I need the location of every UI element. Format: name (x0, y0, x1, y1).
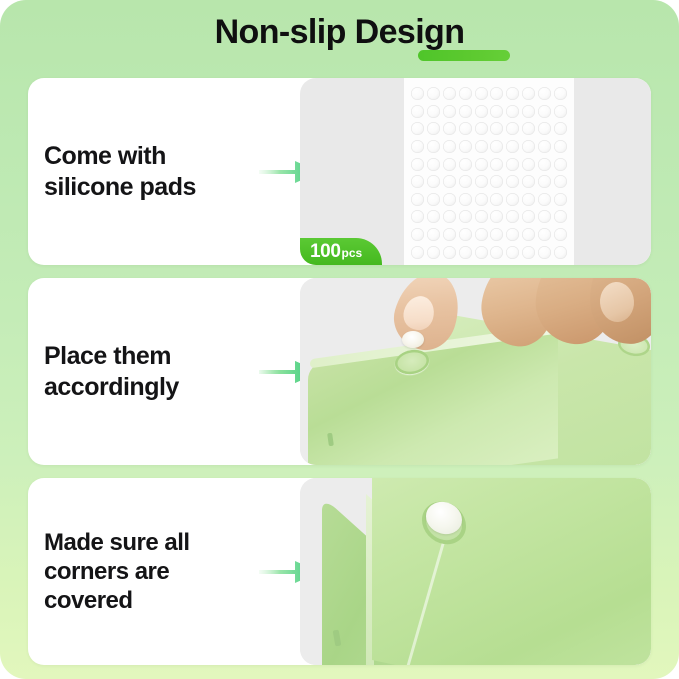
silicone-pad (522, 193, 535, 206)
silicone-pad (506, 105, 519, 118)
feature-card-3-label: Made sure all corners are covered (28, 528, 190, 616)
silicone-pad (411, 175, 424, 188)
silicone-pad (538, 140, 551, 153)
silicone-pad (443, 105, 456, 118)
silicone-pad (554, 87, 567, 100)
silicone-pad (490, 228, 503, 241)
silicone-pad (427, 122, 440, 135)
silicone-pad (411, 87, 424, 100)
silicone-pad (411, 246, 424, 259)
silicone-pad (459, 210, 472, 223)
silicone-pad (427, 193, 440, 206)
silicone-pad (443, 87, 456, 100)
silicone-pad (522, 246, 535, 259)
silicone-pad (490, 210, 503, 223)
silicone-pad (506, 158, 519, 171)
silicone-pad (522, 105, 535, 118)
silicone-pad (538, 228, 551, 241)
silicone-pad (475, 122, 488, 135)
quantity-badge-unit: pcs (342, 240, 363, 265)
silicone-pad (554, 246, 567, 259)
quantity-badge-count: 100 (310, 238, 341, 265)
silicone-pad (490, 122, 503, 135)
silicone-pad (554, 193, 567, 206)
silicone-pad (506, 228, 519, 241)
silicone-pad (475, 246, 488, 259)
silicone-pad (411, 210, 424, 223)
silicone-pad (411, 140, 424, 153)
silicone-pad (506, 87, 519, 100)
silicone-pad (459, 175, 472, 188)
page-title: Non-slip Design (0, 6, 679, 58)
silicone-pad (538, 87, 551, 100)
feature-card-3-line2: corners are (44, 557, 190, 586)
feature-card-1-line1: Come with (44, 141, 196, 172)
silicone-pad (443, 175, 456, 188)
silicone-pad (506, 122, 519, 135)
quantity-badge: 100 pcs (300, 238, 382, 265)
feature-card-2: Place them accordingly (28, 278, 651, 465)
silicone-pad (427, 246, 440, 259)
silicone-pad (490, 193, 503, 206)
silicone-pad (538, 210, 551, 223)
feature-card-3-media (300, 478, 651, 665)
silicone-pad (538, 246, 551, 259)
silicone-pad (427, 158, 440, 171)
silicone-pad (411, 158, 424, 171)
silicone-pad (459, 228, 472, 241)
silicone-pad (459, 140, 472, 153)
silicone-pad (443, 193, 456, 206)
feature-card-1-line2: silicone pads (44, 172, 196, 203)
silicone-pad (475, 105, 488, 118)
silicone-pad (443, 210, 456, 223)
silicone-pad (506, 210, 519, 223)
silicone-pad (475, 193, 488, 206)
silicone-pad (522, 158, 535, 171)
silicone-pad (522, 210, 535, 223)
silicone-pad (554, 228, 567, 241)
silicone-pad (443, 228, 456, 241)
feature-card-1-label: Come with silicone pads (28, 141, 196, 202)
silicone-pad (538, 193, 551, 206)
silicone-pad (427, 140, 440, 153)
feature-card-2-line2: accordingly (44, 372, 179, 403)
silicone-pad (538, 175, 551, 188)
silicone-pad (411, 122, 424, 135)
silicone-pad (522, 228, 535, 241)
silicone-pad (554, 105, 567, 118)
feature-card-3-line3: covered (44, 586, 190, 615)
silicone-pad (427, 105, 440, 118)
silicone-pad (538, 105, 551, 118)
feature-card-3-line1: Made sure all (44, 528, 190, 557)
silicone-pad (443, 158, 456, 171)
silicone-pad (475, 158, 488, 171)
silicone-pad (411, 228, 424, 241)
silicone-pad (538, 158, 551, 171)
silicone-pad (554, 210, 567, 223)
silicone-pad (475, 140, 488, 153)
silicone-pad (459, 246, 472, 259)
silicone-pad (538, 122, 551, 135)
silicone-pad (506, 175, 519, 188)
silicone-pad (490, 246, 503, 259)
silicone-pad (554, 122, 567, 135)
silicone-pad (490, 87, 503, 100)
tray-corner-closeup-photo (300, 478, 651, 665)
feature-card-2-label: Place them accordingly (28, 341, 179, 402)
silicone-pad (522, 87, 535, 100)
silicone-pad (490, 175, 503, 188)
silicone-pad (427, 87, 440, 100)
silicone-pad (411, 105, 424, 118)
silicone-pad (459, 193, 472, 206)
silicone-pad (475, 175, 488, 188)
silicone-pad-being-placed (402, 331, 424, 348)
silicone-pad (427, 228, 440, 241)
silicone-pad (490, 158, 503, 171)
silicone-pad (522, 140, 535, 153)
silicone-pad (411, 193, 424, 206)
silicone-pad (506, 140, 519, 153)
silicone-pad (522, 122, 535, 135)
silicone-pad (475, 87, 488, 100)
silicone-pad (443, 246, 456, 259)
silicone-pad (427, 210, 440, 223)
feature-card-1: Come with silicone pads 100 pcs (28, 78, 651, 265)
silicone-pad (459, 122, 472, 135)
silicone-pad (554, 140, 567, 153)
silicone-pad (475, 210, 488, 223)
silicone-pad (443, 122, 456, 135)
hand-placing-pad-photo (300, 278, 651, 465)
feature-card-2-media (300, 278, 651, 465)
silicone-pad (522, 175, 535, 188)
page-title-area: Non-slip Design (0, 6, 679, 58)
silicone-pad (443, 140, 456, 153)
silicone-pad (459, 87, 472, 100)
silicone-pad (490, 105, 503, 118)
feature-card-2-line1: Place them (44, 341, 179, 372)
silicone-pad (506, 193, 519, 206)
silicone-pad (459, 158, 472, 171)
silicone-pad-sheet (404, 78, 574, 265)
silicone-pad-grid (410, 85, 568, 261)
silicone-pad (459, 105, 472, 118)
silicone-pad (475, 228, 488, 241)
silicone-pad (554, 158, 567, 171)
silicone-pad (427, 175, 440, 188)
silicone-pad (506, 246, 519, 259)
silicone-pad (554, 175, 567, 188)
product-feature-graphic: Non-slip Design Come with silicone pads (0, 0, 679, 679)
feature-card-3: Made sure all corners are covered (28, 478, 651, 665)
feature-card-1-media: 100 pcs (300, 78, 651, 265)
silicone-pad (490, 140, 503, 153)
